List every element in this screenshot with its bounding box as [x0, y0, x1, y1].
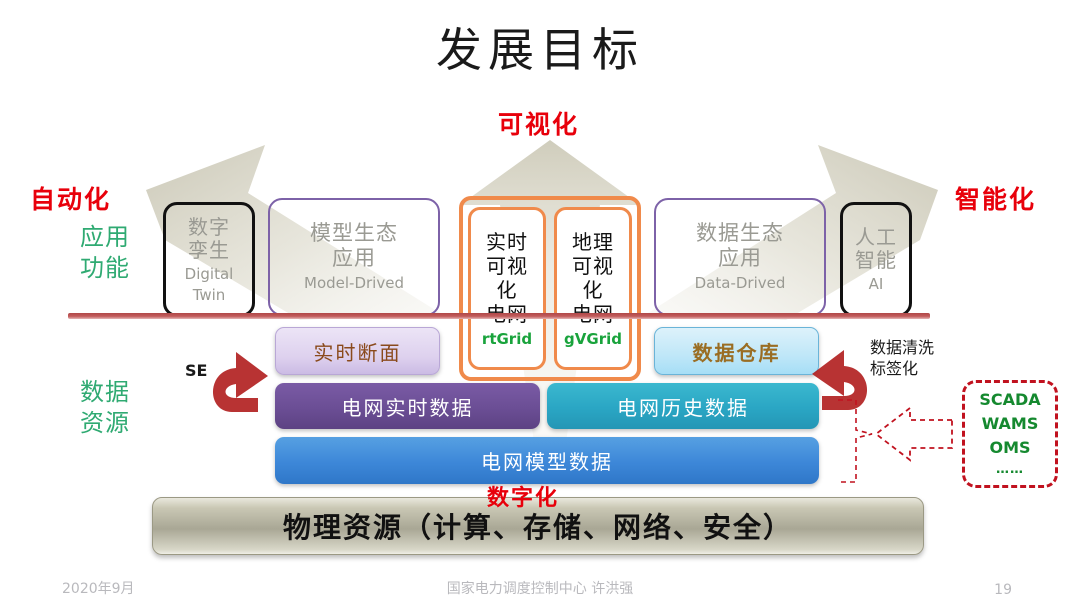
vis-box-rt-grid-cn1: 实时: [486, 230, 528, 254]
app-box-data-driven-en1: Data-Drived: [695, 274, 786, 293]
vis-box-gv-grid-cn3: 化: [583, 278, 604, 302]
row-label-application-line2: 功能: [60, 253, 150, 284]
app-box-data-driven-cn2: 应用: [718, 246, 762, 271]
row-label-data-resource: 数据 资源: [60, 377, 150, 439]
data-bar-realtime-snapshot[interactable]: 实时断面: [275, 327, 440, 375]
data-bar-grid-history[interactable]: 电网历史数据: [547, 383, 819, 429]
source-item-scada: SCADA: [979, 388, 1040, 412]
app-box-digital-twin-cn1: 数字: [188, 216, 230, 239]
source-item-oms: OMS: [989, 436, 1030, 460]
row-label-application: 应用 功能: [60, 222, 150, 284]
vis-box-rt-grid-en: rtGrid: [482, 330, 532, 348]
page-title: 发展目标: [0, 14, 1080, 80]
app-box-digital-twin-en2: Twin: [193, 286, 226, 304]
annotation-se: SE: [185, 361, 207, 380]
data-bar-grid-realtime[interactable]: 电网实时数据: [275, 383, 540, 429]
vis-box-rt-grid-cn3: 化: [497, 278, 518, 302]
source-item-more: ……: [996, 460, 1024, 480]
app-box-model-driven[interactable]: 模型生态 应用 Model-Drived: [268, 198, 440, 316]
footer-page-number: 19: [994, 582, 1012, 598]
cleaning-curved-arrow-icon: [812, 350, 867, 410]
app-box-ai[interactable]: 人工 智能 AI: [840, 202, 912, 317]
se-curved-arrow-icon: [213, 352, 268, 412]
vis-box-gv-grid-cn1: 地理: [572, 230, 614, 254]
slide-canvas: 发展目标: [0, 0, 1080, 608]
caption-intelligence: 智能化: [955, 180, 1036, 216]
foundation-bar-label: 物理资源（计算、存储、网络、安全）: [283, 506, 793, 546]
annotation-data-cleaning-line2: 标签化: [870, 358, 934, 379]
row-label-application-line1: 应用: [60, 222, 150, 253]
annotation-data-cleaning: 数据清洗 标签化: [870, 337, 934, 379]
app-box-ai-en1: AI: [869, 275, 884, 294]
row-label-data-line2: 资源: [60, 408, 150, 439]
vis-box-gv-grid[interactable]: 地理 可视 化 电网 gVGrid: [554, 207, 632, 370]
app-box-model-driven-cn1: 模型生态: [310, 221, 398, 246]
app-box-digital-twin-en1: Digital: [185, 265, 234, 283]
source-systems-box[interactable]: SCADA WAMS OMS ……: [962, 380, 1058, 488]
data-bar-grid-model[interactable]: 电网模型数据: [275, 437, 819, 484]
dashed-brace-connector: [838, 400, 872, 482]
app-box-data-driven[interactable]: 数据生态 应用 Data-Drived: [654, 198, 826, 316]
caption-visualization: 可视化: [498, 105, 579, 141]
app-box-digital-twin[interactable]: 数字 孪生 Digital Twin: [163, 202, 255, 317]
app-box-digital-twin-cn2: 孪生: [188, 239, 230, 262]
footer-affiliation: 国家电力调度控制中心 许洪强: [0, 578, 1080, 598]
app-box-ai-cn1: 人工: [855, 226, 897, 249]
annotation-data-cleaning-line1: 数据清洗: [870, 337, 934, 358]
app-box-model-driven-cn2: 应用: [332, 246, 376, 271]
layer-separator-line: [68, 313, 930, 319]
data-bar-data-warehouse[interactable]: 数据仓库: [654, 327, 819, 375]
caption-automation: 自动化: [30, 180, 111, 216]
vis-box-rt-grid[interactable]: 实时 可视 化 电网 rtGrid: [468, 207, 546, 370]
source-item-wams: WAMS: [982, 412, 1039, 436]
row-label-data-line1: 数据: [60, 377, 150, 408]
vis-box-rt-grid-cn2: 可视: [486, 254, 528, 278]
app-box-data-driven-cn1: 数据生态: [696, 221, 784, 246]
vis-box-gv-grid-en: gVGrid: [564, 330, 622, 348]
caption-digitalization: 数字化: [487, 480, 559, 512]
vis-box-gv-grid-cn2: 可视: [572, 254, 614, 278]
dashed-block-arrow-icon: [876, 408, 952, 460]
app-box-ai-cn2: 智能: [855, 249, 897, 272]
app-box-model-driven-en1: Model-Drived: [304, 274, 404, 293]
